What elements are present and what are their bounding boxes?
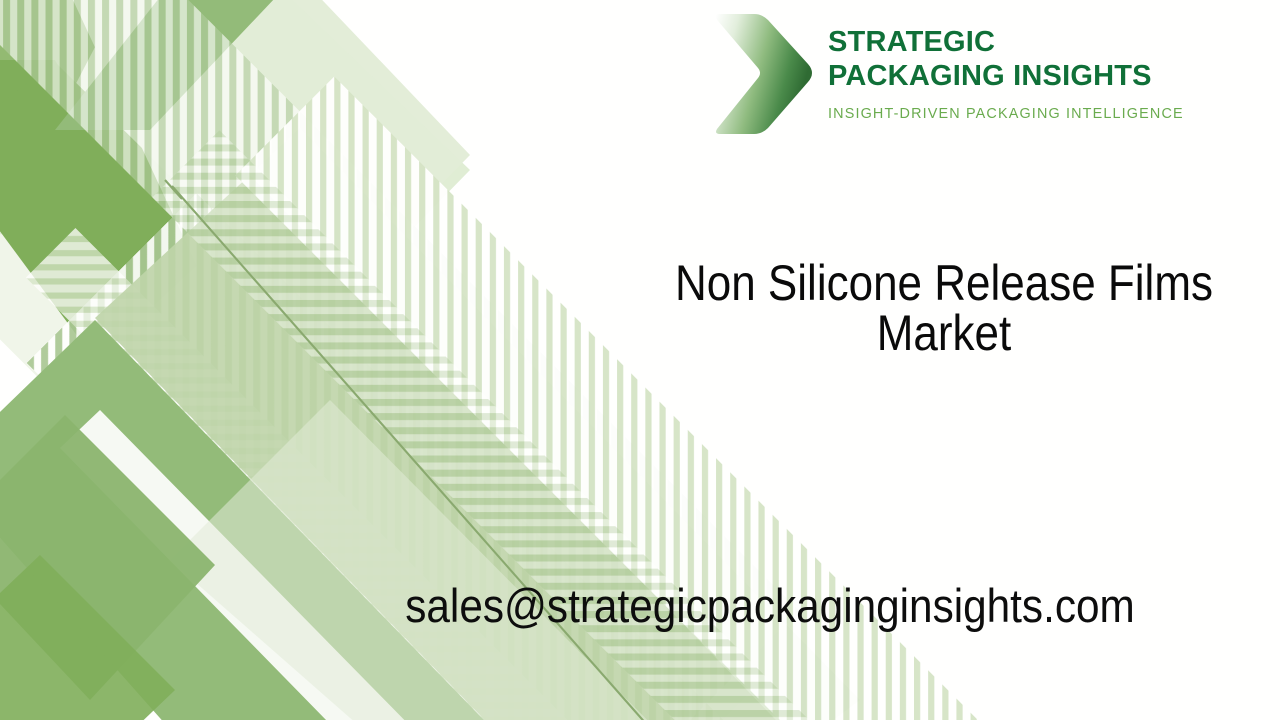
slide-title: Non Silicone Release Films Market	[654, 258, 1235, 358]
logo-wordmark: STRATEGIC PACKAGING INSIGHTS INSIGHT-DRI…	[828, 8, 1184, 122]
logo-tagline: INSIGHT-DRIVEN PACKAGING INTELLIGENCE	[828, 106, 1184, 122]
contact-email: sales@strategicpackaginginsights.com	[383, 580, 1157, 632]
logo-line-2: PACKAGING INSIGHTS	[828, 60, 1184, 94]
brand-logo: STRATEGIC PACKAGING INSIGHTS INSIGHT-DRI…	[712, 8, 1224, 146]
chevron-logo-icon	[712, 10, 816, 138]
slide-canvas: STRATEGIC PACKAGING INSIGHTS INSIGHT-DRI…	[0, 0, 1280, 720]
logo-line-1: STRATEGIC	[828, 26, 1184, 60]
